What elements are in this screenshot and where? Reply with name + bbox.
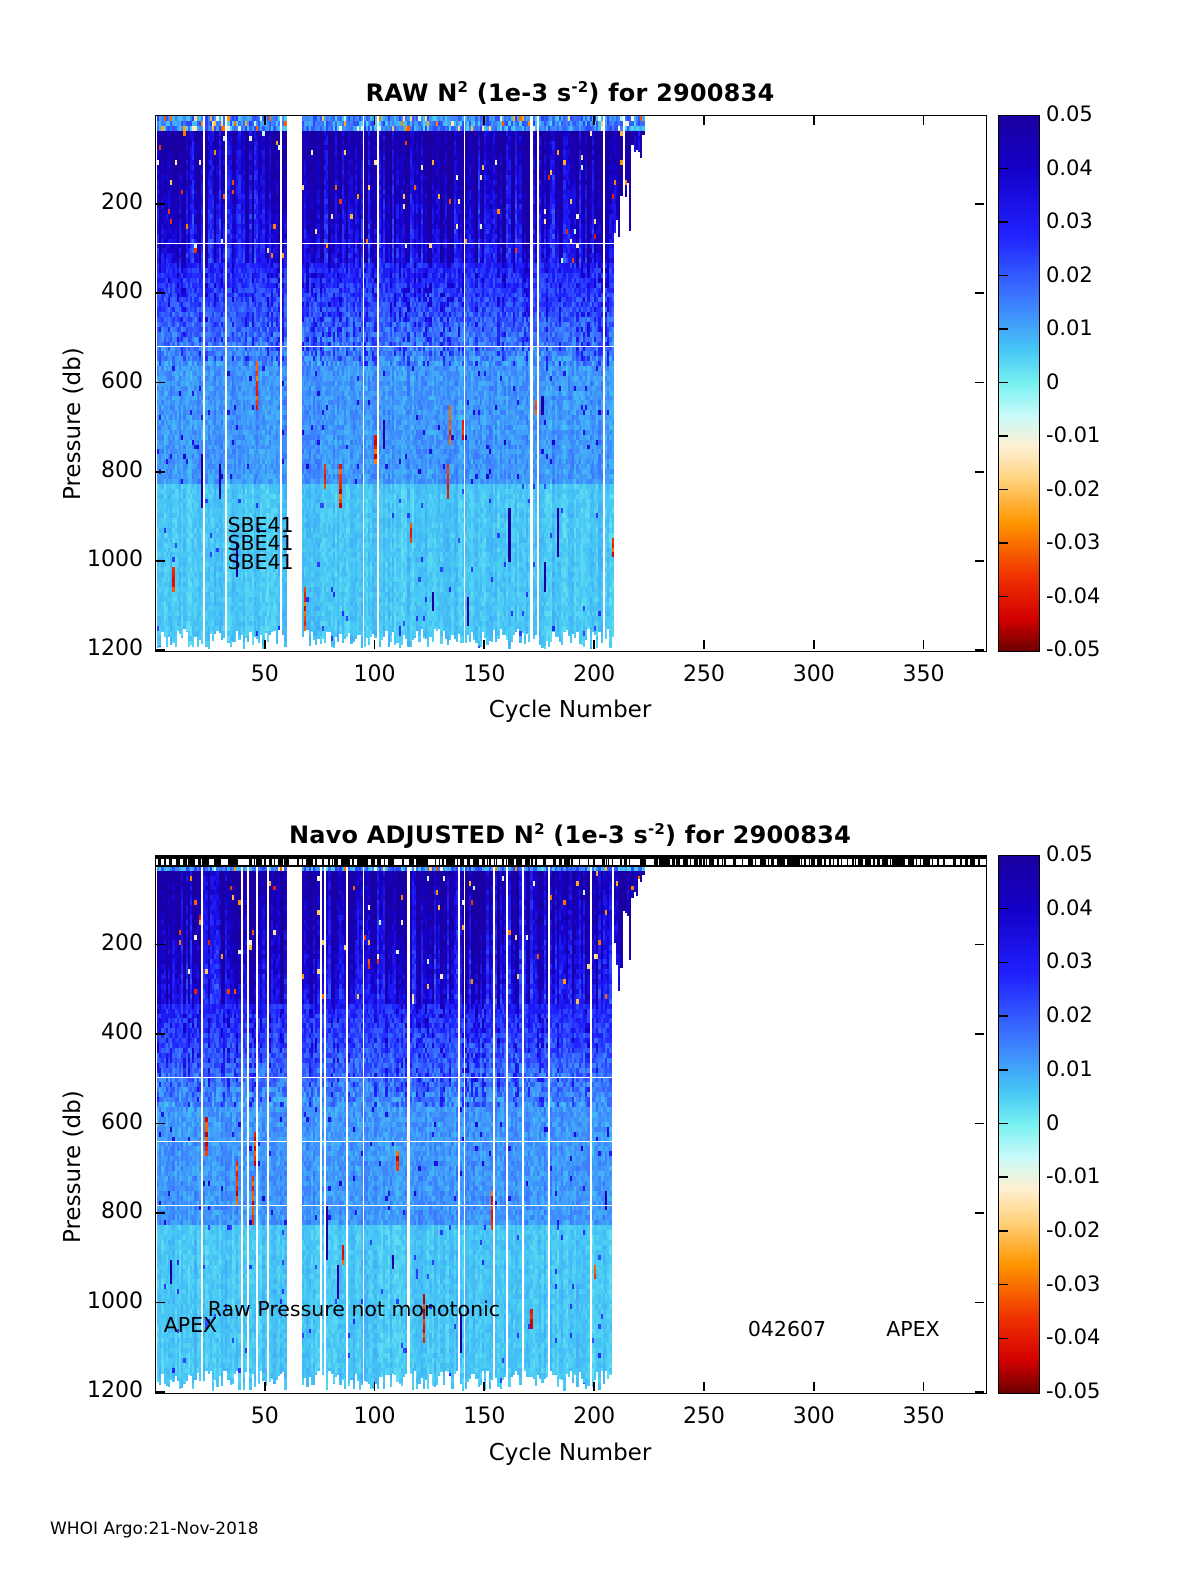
y-axis-tick bbox=[975, 1391, 984, 1393]
y-axis-tick bbox=[975, 382, 984, 384]
colorbar-tick bbox=[999, 1015, 1008, 1017]
profile-stripe bbox=[642, 856, 644, 1393]
y-axis-tick-label: 1000 bbox=[47, 1289, 143, 1314]
x-axis-tick bbox=[593, 1382, 595, 1391]
y-axis-tick-label: 400 bbox=[47, 279, 143, 304]
x-axis-tick-label: 200 bbox=[544, 662, 644, 687]
y-axis-tick bbox=[156, 1391, 165, 1393]
x-axis-tick bbox=[703, 856, 705, 865]
y-axis-tick bbox=[975, 1212, 984, 1214]
profile-stripe bbox=[609, 856, 611, 1393]
colorbar-tick bbox=[999, 275, 1008, 277]
x-axis-tick-label: 250 bbox=[654, 1404, 754, 1429]
x-axis-tick bbox=[813, 640, 815, 649]
y-axis-tick bbox=[975, 560, 984, 562]
x-axis-tick-label: 300 bbox=[764, 1404, 864, 1429]
panel-raw-colorbar[interactable] bbox=[998, 115, 1040, 652]
colorbar-tick bbox=[999, 1284, 1008, 1286]
x-axis-tick-label: 250 bbox=[654, 662, 754, 687]
profile-stripe bbox=[528, 116, 530, 651]
colorbar-tick bbox=[999, 908, 1008, 910]
colorbar-tick bbox=[999, 1338, 1008, 1340]
colorbar-tick-label: -0.04 bbox=[1046, 584, 1100, 608]
y-axis-tick bbox=[975, 944, 984, 946]
x-axis-tick bbox=[813, 116, 815, 125]
profile-stripe bbox=[546, 856, 548, 1393]
x-axis-tick bbox=[264, 856, 266, 865]
colorbar-tick-label: 0.01 bbox=[1046, 316, 1093, 340]
title-superscript: 2 bbox=[458, 78, 469, 96]
colorbar-tick bbox=[999, 435, 1008, 437]
title-text: (1e-3 s bbox=[545, 821, 648, 849]
plot-annotation: 042607 bbox=[748, 1317, 826, 1341]
title-text: ) for 2900834 bbox=[665, 821, 851, 849]
colorbar-tick bbox=[999, 1176, 1008, 1178]
colorbar-tick-label: 0.03 bbox=[1046, 209, 1093, 233]
x-axis-tick bbox=[483, 116, 485, 125]
y-axis-tick bbox=[975, 292, 984, 294]
colorbar-tick bbox=[999, 328, 1008, 330]
colorbar-tick-label: -0.03 bbox=[1046, 530, 1100, 554]
colorbar-tick-label: 0.01 bbox=[1046, 1057, 1093, 1081]
profile-stripe bbox=[201, 116, 203, 651]
title-superscript: 2 bbox=[534, 820, 545, 838]
y-axis-tick bbox=[975, 1123, 984, 1125]
y-axis-tick bbox=[975, 203, 984, 205]
y-axis-tick bbox=[975, 471, 984, 473]
x-axis-tick bbox=[703, 116, 705, 125]
y-axis-tick bbox=[156, 649, 165, 651]
x-axis-tick-label: 350 bbox=[874, 662, 974, 687]
colorbar-tick-label: 0.04 bbox=[1046, 156, 1093, 180]
colorbar-tick-label: 0.02 bbox=[1046, 1003, 1093, 1027]
x-axis-tick bbox=[374, 640, 376, 649]
y-axis-tick-label: 200 bbox=[47, 190, 143, 215]
x-axis-tick-label: 200 bbox=[544, 1404, 644, 1429]
colorbar-tick bbox=[999, 542, 1008, 544]
colorbar-tick-label: 0.05 bbox=[1046, 102, 1093, 126]
plot-annotation: SBE41 bbox=[227, 550, 293, 574]
y-axis-tick bbox=[156, 471, 165, 473]
profile-stripe bbox=[374, 116, 376, 651]
colorbar-tick-label: 0.02 bbox=[1046, 263, 1093, 287]
profile-stripe bbox=[535, 116, 537, 651]
title-text: RAW N bbox=[366, 79, 458, 107]
colorbar-tick-label: -0.05 bbox=[1046, 637, 1100, 661]
y-axis-tick bbox=[156, 560, 165, 562]
x-axis-tick bbox=[593, 640, 595, 649]
colorbar-tick bbox=[999, 1069, 1008, 1071]
colorbar-tick-label: 0.04 bbox=[1046, 896, 1093, 920]
colorbar-tick bbox=[999, 221, 1008, 223]
x-axis-tick bbox=[264, 116, 266, 125]
y-axis-tick-label: 1000 bbox=[47, 547, 143, 572]
y-axis-tick-label: 600 bbox=[47, 369, 143, 394]
panel-adjusted-colorbar[interactable] bbox=[998, 855, 1040, 1394]
title-text: Navo ADJUSTED N bbox=[289, 821, 534, 849]
y-axis-tick-label: 1200 bbox=[47, 1378, 143, 1403]
x-axis-tick-label: 100 bbox=[325, 662, 425, 687]
x-axis-tick bbox=[593, 116, 595, 125]
x-axis-tick bbox=[374, 116, 376, 125]
panel-adjusted-xlabel: Cycle Number bbox=[155, 1440, 985, 1466]
profile-stripe bbox=[519, 856, 521, 1393]
x-axis-tick bbox=[813, 1382, 815, 1391]
profile-stripe bbox=[587, 856, 589, 1393]
y-axis-tick-label: 1200 bbox=[47, 636, 143, 661]
x-axis-tick bbox=[813, 856, 815, 865]
profile-stripe bbox=[223, 116, 225, 651]
colorbar-tick bbox=[999, 168, 1008, 170]
colorbar-tick-label: 0.05 bbox=[1046, 842, 1093, 866]
figure-footer: WHOI Argo:21-Nov-2018 bbox=[50, 1519, 259, 1539]
colorbar-tick-label: -0.01 bbox=[1046, 423, 1100, 447]
x-axis-tick-label: 50 bbox=[215, 662, 315, 687]
x-axis-tick bbox=[923, 116, 925, 125]
x-axis-tick bbox=[264, 1382, 266, 1391]
x-axis-tick bbox=[374, 1382, 376, 1391]
x-axis-tick-label: 350 bbox=[874, 1404, 974, 1429]
plot-annotation: Raw Pressure not monotonic bbox=[208, 1297, 500, 1321]
x-axis-tick-label: 50 bbox=[215, 1404, 315, 1429]
y-axis-tick bbox=[156, 1033, 165, 1035]
y-axis-tick bbox=[156, 203, 165, 205]
colorbar-tick bbox=[999, 489, 1008, 491]
colorbar-tick-label: -0.03 bbox=[1046, 1272, 1100, 1296]
adjusted-pressure-marker-band bbox=[156, 856, 986, 867]
colorbar-tick-label: 0 bbox=[1046, 1111, 1059, 1135]
profile-stripe bbox=[620, 116, 622, 651]
colorbar-tick-label: 0.03 bbox=[1046, 949, 1093, 973]
x-axis-tick-label: 150 bbox=[434, 1404, 534, 1429]
x-axis-tick bbox=[483, 1382, 485, 1391]
y-axis-tick bbox=[156, 944, 165, 946]
panel-raw-title: RAW N2 (1e-3 s-2) for 2900834 bbox=[155, 78, 985, 107]
x-axis-tick bbox=[593, 856, 595, 865]
y-axis-tick bbox=[156, 1212, 165, 1214]
y-axis-tick-label: 800 bbox=[47, 458, 143, 483]
y-axis-tick bbox=[156, 1302, 165, 1304]
title-text: ) for 2900834 bbox=[588, 79, 774, 107]
y-axis-tick-label: 600 bbox=[47, 1110, 143, 1135]
colorbar-tick-label: -0.02 bbox=[1046, 1218, 1100, 1242]
colorbar-tick-label: -0.02 bbox=[1046, 477, 1100, 501]
x-axis-tick-label: 100 bbox=[325, 1404, 425, 1429]
profile-stripe bbox=[642, 116, 644, 651]
colorbar-tick bbox=[999, 1123, 1008, 1125]
x-axis-tick bbox=[264, 640, 266, 649]
colorbar-tick bbox=[999, 1230, 1008, 1232]
colorbar-tick bbox=[999, 596, 1008, 598]
y-axis-tick bbox=[156, 1123, 165, 1125]
colorbar-tick-label: -0.01 bbox=[1046, 1164, 1100, 1188]
x-axis-tick bbox=[703, 1382, 705, 1391]
profile-stripe bbox=[504, 856, 506, 1393]
x-axis-tick bbox=[374, 856, 376, 865]
profile-stripe bbox=[601, 116, 603, 651]
y-axis-tick bbox=[156, 382, 165, 384]
title-text: (1e-3 s bbox=[468, 79, 571, 107]
y-axis-tick-label: 800 bbox=[47, 1199, 143, 1224]
colorbar-tick bbox=[999, 962, 1008, 964]
y-axis-tick bbox=[975, 649, 984, 651]
x-axis-tick bbox=[483, 640, 485, 649]
title-superscript: -2 bbox=[648, 820, 665, 838]
x-axis-tick-label: 300 bbox=[764, 662, 864, 687]
y-axis-tick bbox=[975, 1033, 984, 1035]
plot-annotation: APEX bbox=[886, 1317, 939, 1341]
panel-raw-xlabel: Cycle Number bbox=[155, 697, 985, 723]
colorbar-tick-label: 0 bbox=[1046, 370, 1059, 394]
colorbar-tick bbox=[999, 382, 1008, 384]
x-axis-tick bbox=[703, 640, 705, 649]
x-axis-tick bbox=[923, 640, 925, 649]
y-axis-tick bbox=[975, 1302, 984, 1304]
title-superscript: -2 bbox=[571, 78, 588, 96]
colorbar-tick-label: -0.05 bbox=[1046, 1379, 1100, 1403]
y-axis-tick bbox=[156, 292, 165, 294]
x-axis-tick bbox=[923, 856, 925, 865]
x-axis-tick bbox=[923, 1382, 925, 1391]
colorbar-tick-label: -0.04 bbox=[1046, 1325, 1100, 1349]
y-axis-tick-label: 200 bbox=[47, 931, 143, 956]
x-axis-tick-label: 150 bbox=[434, 662, 534, 687]
panel-adjusted-title: Navo ADJUSTED N2 (1e-3 s-2) for 2900834 bbox=[155, 820, 985, 849]
x-axis-tick bbox=[483, 856, 485, 865]
y-axis-tick-label: 400 bbox=[47, 1020, 143, 1045]
